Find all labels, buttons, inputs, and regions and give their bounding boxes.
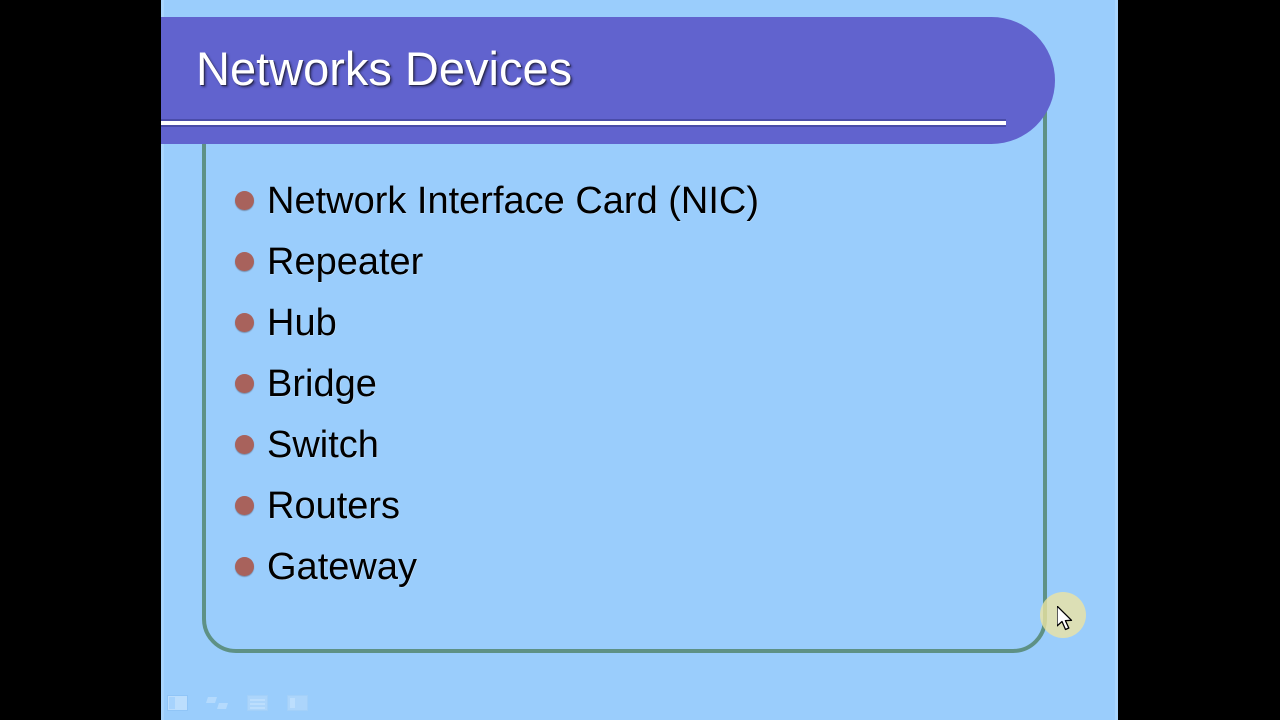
reading-view-icon[interactable]: [247, 695, 268, 711]
slide-title: Networks Devices: [196, 41, 572, 97]
screen: Networks Devices Network Interface Card …: [0, 0, 1280, 720]
list-item[interactable]: Hub: [235, 292, 1015, 353]
view-mode-toolbar[interactable]: [167, 695, 308, 711]
bullet-list[interactable]: Network Interface Card (NIC) Repeater Hu…: [235, 170, 1015, 597]
list-item[interactable]: Network Interface Card (NIC): [235, 170, 1015, 231]
slide-right-edge: [1115, 0, 1118, 720]
bullet-dot-icon: [235, 313, 254, 332]
list-item-label: Switch: [267, 423, 379, 467]
bullet-dot-icon: [235, 557, 254, 576]
title-banner[interactable]: Networks Devices: [161, 17, 1055, 144]
bullet-dot-icon: [235, 374, 254, 393]
slide-show-icon[interactable]: [287, 695, 308, 711]
list-item-label: Repeater: [267, 240, 423, 284]
bullet-dot-icon: [235, 435, 254, 454]
title-underline-rule: [161, 119, 1006, 127]
normal-view-icon[interactable]: [167, 695, 188, 711]
slide-sorter-view-icon[interactable]: [207, 695, 228, 711]
list-item-label: Routers: [267, 484, 400, 528]
presentation-slide[interactable]: Networks Devices Network Interface Card …: [161, 0, 1118, 720]
list-item[interactable]: Gateway: [235, 536, 1015, 597]
list-item[interactable]: Bridge: [235, 353, 1015, 414]
bullet-dot-icon: [235, 191, 254, 210]
list-item[interactable]: Routers: [235, 475, 1015, 536]
list-item-label: Hub: [267, 301, 337, 345]
list-item[interactable]: Repeater: [235, 231, 1015, 292]
list-item-label: Bridge: [267, 362, 377, 406]
list-item-label: Gateway: [267, 545, 417, 589]
list-item-label: Network Interface Card (NIC): [267, 179, 759, 223]
list-item[interactable]: Switch: [235, 414, 1015, 475]
bullet-dot-icon: [235, 252, 254, 271]
bullet-dot-icon: [235, 496, 254, 515]
